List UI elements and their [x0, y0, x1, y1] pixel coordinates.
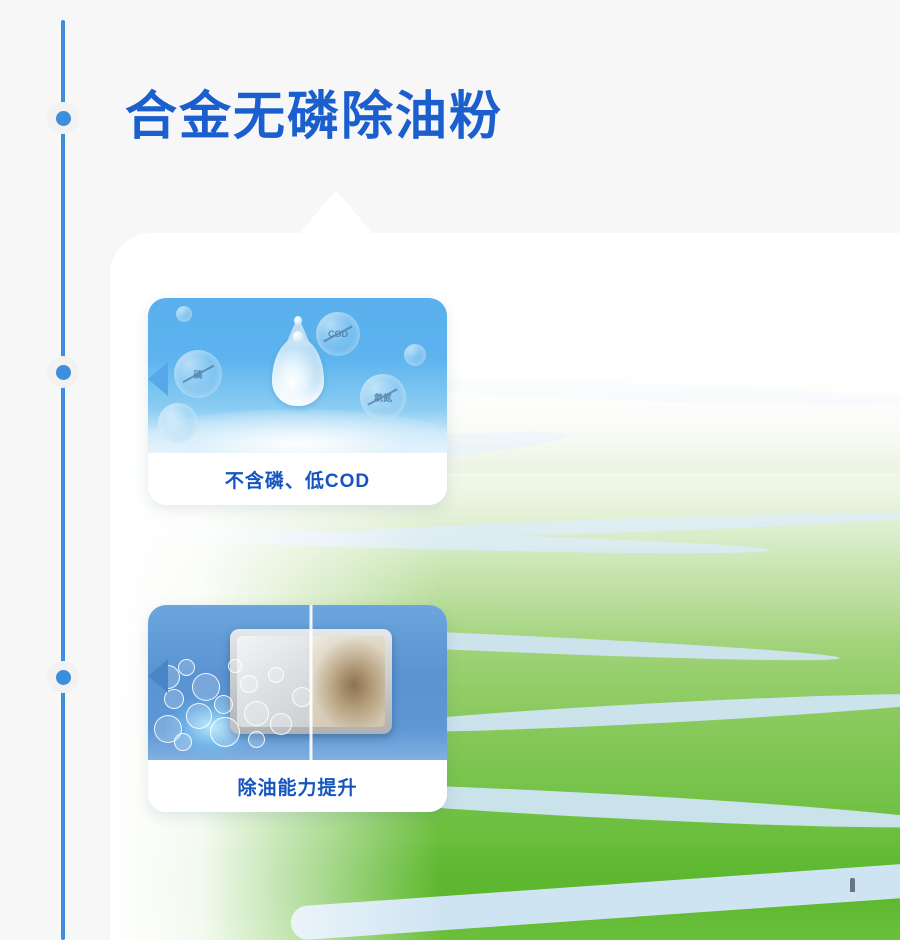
timeline-dot-feature-two — [47, 661, 79, 693]
mini-drop-icon — [292, 331, 303, 343]
card-arrow-icon — [148, 362, 168, 396]
timeline-line — [61, 20, 65, 940]
timeline-dot-inner-icon — [56, 365, 71, 380]
page-title: 合金无磷除油粉 — [125, 88, 503, 146]
timeline-dot-inner-icon — [56, 670, 71, 685]
bubble-cod: COD — [316, 312, 360, 356]
feature-card-phosphorus-free[interactable]: 磷 COD 氨氮 不含磷、低COD — [148, 298, 447, 505]
bubble-phosphorus: 磷 — [174, 350, 222, 398]
bubble-label: 氨氮 — [360, 374, 406, 420]
feature-card-media: 磷 COD 氨氮 — [148, 298, 447, 453]
bubble-label: 磷 — [174, 350, 222, 398]
foam-bubbles — [152, 657, 322, 757]
bubble-decorative — [158, 403, 198, 443]
page-root: 合金无磷除油粉 — [0, 0, 900, 940]
tray-dirty-half — [311, 636, 385, 727]
mini-drop-icon — [294, 316, 302, 325]
panel-arrow-icon — [299, 190, 373, 234]
person-figure-icon — [850, 878, 855, 892]
bubble-decorative — [176, 306, 192, 322]
bubble-label: COD — [316, 312, 360, 356]
bubble-ammonia-nitrogen: 氨氮 — [360, 374, 406, 420]
feature-card-degreasing[interactable]: 除油能力提升 — [148, 605, 447, 812]
feature-card-media — [148, 605, 447, 760]
timeline-dot-feature-one — [47, 356, 79, 388]
bubble-decorative — [404, 344, 426, 366]
timeline-dot-inner-icon — [56, 111, 71, 126]
feature-card-caption: 不含磷、低COD — [148, 453, 447, 505]
timeline-dot-title — [47, 102, 79, 134]
feature-card-caption: 除油能力提升 — [148, 760, 447, 812]
card-arrow-icon — [148, 659, 168, 693]
